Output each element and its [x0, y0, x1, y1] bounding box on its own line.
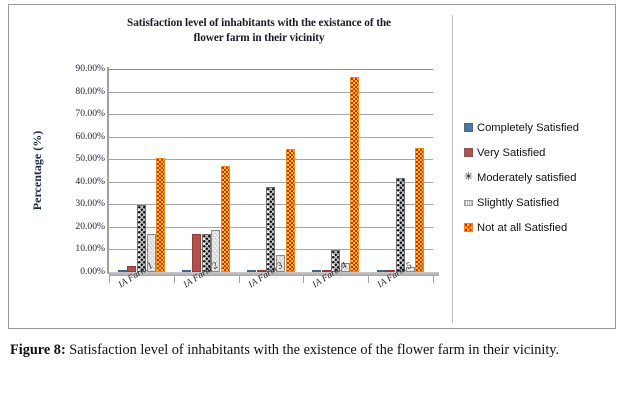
figure-frame: Satisfaction level of inhabitants with t…: [8, 4, 616, 329]
x-axis-tick-mark: [239, 276, 240, 283]
y-axis-tick-label: 90.00%: [49, 63, 105, 74]
legend-item-label: Very Satisfied: [477, 147, 545, 159]
y-axis-tick-label: 10.00%: [49, 243, 105, 254]
x-axis-tick-mark: [174, 276, 175, 283]
y-axis-tick-label: 60.00%: [49, 131, 105, 142]
figure-caption-label: Figure 8:: [10, 342, 66, 358]
bar-group: [368, 69, 433, 272]
figure-caption: Figure 8: Satisfaction level of inhabita…: [10, 340, 610, 361]
y-axis-tick-label: 30.00%: [49, 198, 105, 209]
chart-legend: Completely SatisfiedVery Satisfied✳Moder…: [464, 115, 624, 240]
legend-divider: [452, 15, 453, 323]
y-axis-tick-label: 40.00%: [49, 176, 105, 187]
bar: [266, 187, 275, 272]
bar-group: [303, 69, 368, 272]
y-axis-tick-label: 20.00%: [49, 221, 105, 232]
bar: [192, 234, 201, 272]
plot-area: [109, 69, 433, 272]
y-axis-tick-label: 50.00%: [49, 153, 105, 164]
x-axis-tick-mark: [433, 276, 434, 283]
chart-title: Satisfaction level of inhabitants with t…: [69, 16, 449, 45]
x-axis-tick-mark: [368, 276, 369, 283]
figure-caption-text: Satisfaction level of inhabitants with t…: [66, 342, 559, 358]
y-axis-tick-label: 80.00%: [49, 86, 105, 97]
bar-group: [109, 69, 174, 272]
y-axis-title: Percentage (%): [31, 115, 45, 225]
legend-swatch-icon: [464, 223, 473, 232]
legend-swatch-icon: ✳: [464, 173, 473, 182]
figure-page: Satisfaction level of inhabitants with t…: [0, 0, 627, 403]
x-axis-tick-mark: [109, 276, 110, 283]
chart-title-line-1: Satisfaction level of inhabitants with t…: [69, 16, 449, 31]
legend-item-label: Completely Satisfied: [477, 122, 579, 134]
bar-group: [239, 69, 304, 272]
legend-swatch-icon: [464, 200, 473, 206]
y-axis-tick-label: 70.00%: [49, 108, 105, 119]
y-axis-title-text: Percentage (%): [31, 130, 46, 209]
bar: [350, 77, 359, 272]
legend-item[interactable]: ✳Moderately satisfied: [464, 165, 624, 190]
bar: [396, 178, 405, 272]
chart-title-line-2: flower farm in their vicinity: [69, 31, 449, 46]
x-axis-tick-mark: [303, 276, 304, 283]
y-axis-tick-label: 0.00%: [49, 266, 105, 277]
legend-item[interactable]: Very Satisfied: [464, 140, 624, 165]
bar: [137, 205, 146, 272]
legend-item-label: Slightly Satisfied: [477, 197, 559, 209]
legend-item[interactable]: Slightly Satisfied: [464, 190, 624, 215]
legend-swatch-icon: [464, 148, 473, 157]
legend-item-label: Moderately satisfied: [477, 172, 577, 184]
legend-item[interactable]: Completely Satisfied: [464, 115, 624, 140]
legend-item-label: Not at all Satisfied: [477, 222, 567, 234]
legend-item[interactable]: Not at all Satisfied: [464, 215, 624, 240]
bar-group: [174, 69, 239, 272]
legend-swatch-icon: [464, 123, 473, 132]
